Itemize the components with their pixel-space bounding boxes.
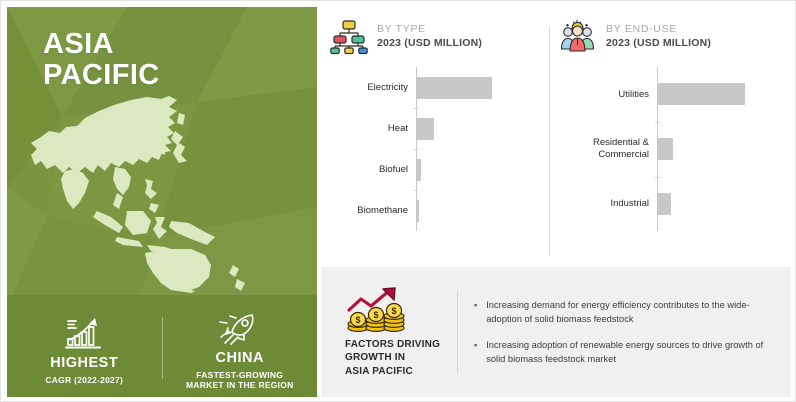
factors-title: FACTORS DRIVING GROWTH IN ASIA PACIFIC bbox=[345, 338, 453, 379]
region-title-line2: PACIFIC bbox=[43, 60, 160, 91]
factors-section: $ $ $ FACTORS DRIVING GROWTH IN ASIA PAC… bbox=[321, 267, 791, 397]
bar-row: Heat bbox=[321, 108, 549, 149]
bar-label: Residential & Commercial bbox=[550, 137, 657, 160]
factors-title-line3: ASIA PACIFIC bbox=[345, 365, 453, 379]
svg-text:$: $ bbox=[373, 310, 378, 320]
bar-row: Electricity bbox=[321, 67, 549, 108]
bar-label: Industrial bbox=[550, 198, 657, 210]
bullet-marker-icon: ▪ bbox=[474, 298, 477, 326]
kpi-subtitle: FASTEST-GROWING MARKET IN THE REGION bbox=[186, 370, 293, 392]
kpi-title: CHINA bbox=[216, 351, 264, 367]
kpi-subtitle: CAGR (2022-2027) bbox=[45, 375, 123, 386]
rocket-icon bbox=[214, 310, 266, 346]
bar-label: Biofuel bbox=[321, 164, 416, 176]
panel-kicker: BY END-USE bbox=[606, 23, 711, 36]
page-title: ASIA PACIFIC bbox=[43, 29, 160, 92]
kpi-subtitle-line2: MARKET IN THE REGION bbox=[186, 380, 293, 391]
chart-panel-by-end-use: BY END-USE 2023 (USD MILLION) Utilities … bbox=[550, 7, 791, 267]
factors-title-line2: GROWTH IN bbox=[345, 351, 453, 365]
coins-growth-arrow-icon: $ $ $ bbox=[345, 286, 453, 334]
bar-rows: Electricity Heat Biofuel Biomethane bbox=[321, 67, 549, 231]
panel-header: BY END-USE 2023 (USD MILLION) bbox=[550, 7, 791, 55]
panel-year: 2023 (USD MILLION) bbox=[606, 37, 711, 51]
factors-divider bbox=[457, 290, 458, 374]
panel-kicker: BY TYPE bbox=[377, 23, 482, 36]
svg-text:$: $ bbox=[355, 315, 360, 325]
bar-biomethane bbox=[416, 200, 419, 222]
bar-row: Biofuel bbox=[321, 149, 549, 190]
bullet-marker-icon: ▪ bbox=[474, 338, 477, 366]
bullet-text: Increasing adoption of renewable energy … bbox=[486, 338, 775, 366]
people-group-icon bbox=[559, 17, 597, 55]
factors-heading-block: $ $ $ FACTORS DRIVING GROWTH IN ASIA PAC… bbox=[321, 286, 453, 379]
factors-bullet-list: ▪ Increasing demand for energy efficienc… bbox=[474, 298, 791, 366]
chart-panel-by-type: BY TYPE 2023 (USD MILLION) Electricity H… bbox=[321, 7, 549, 267]
region-panel: ASIA PACIFIC bbox=[7, 7, 317, 397]
kpi-china-fastest-growing: CHINA FASTEST-GROWING MARKET IN THE REGI… bbox=[163, 301, 318, 392]
bar-label-line2: Commercial bbox=[550, 149, 649, 161]
bar-row: Industrial bbox=[550, 176, 791, 231]
bar-label: Biomethane bbox=[321, 205, 416, 217]
bar-label: Utilities bbox=[550, 89, 657, 101]
bar-row: Biomethane bbox=[321, 190, 549, 231]
bar-chart-by-end-use: Utilities Residential & Commercial Indus… bbox=[550, 67, 791, 231]
kpi-highest-cagr: HIGHEST CAGR (2022-2027) bbox=[7, 306, 162, 386]
list-item: ▪ Increasing demand for energy efficienc… bbox=[474, 298, 775, 326]
bar-industrial bbox=[657, 193, 671, 215]
bar-row: Residential & Commercial bbox=[550, 122, 791, 177]
bar-label-line1: Residential & bbox=[550, 137, 649, 149]
bar-label: Heat bbox=[321, 123, 416, 135]
bar-heat bbox=[416, 118, 434, 140]
panel-year: 2023 (USD MILLION) bbox=[377, 37, 482, 51]
bar-electricity bbox=[416, 77, 492, 99]
kpi-title: HIGHEST bbox=[50, 356, 118, 372]
bar-biofuel bbox=[416, 159, 421, 181]
asia-pacific-map-icon bbox=[19, 93, 309, 293]
bar-chart-by-type: Electricity Heat Biofuel Biomethane bbox=[321, 67, 549, 231]
bar-residential-commercial bbox=[657, 138, 673, 160]
bar-rows: Utilities Residential & Commercial Indus… bbox=[550, 67, 791, 231]
bar-label: Electricity bbox=[321, 82, 416, 94]
bar-utilities bbox=[657, 83, 745, 105]
hierarchy-chart-icon bbox=[330, 17, 368, 55]
growth-bar-chart-icon bbox=[62, 315, 106, 351]
region-title-line1: ASIA bbox=[43, 29, 160, 60]
list-item: ▪ Increasing adoption of renewable energ… bbox=[474, 338, 775, 366]
svg-text:$: $ bbox=[391, 306, 396, 316]
factors-title-line1: FACTORS DRIVING bbox=[345, 338, 453, 352]
kpi-subtitle-line1: FASTEST-GROWING bbox=[186, 370, 293, 381]
kpi-band: HIGHEST CAGR (2022-2027) bbox=[7, 295, 317, 397]
charts-section: BY TYPE 2023 (USD MILLION) Electricity H… bbox=[321, 7, 791, 267]
infographic-page: ASIA PACIFIC bbox=[0, 0, 796, 402]
panel-header: BY TYPE 2023 (USD MILLION) bbox=[321, 7, 549, 55]
bullet-text: Increasing demand for energy efficiency … bbox=[486, 298, 775, 326]
bar-row: Utilities bbox=[550, 67, 791, 122]
